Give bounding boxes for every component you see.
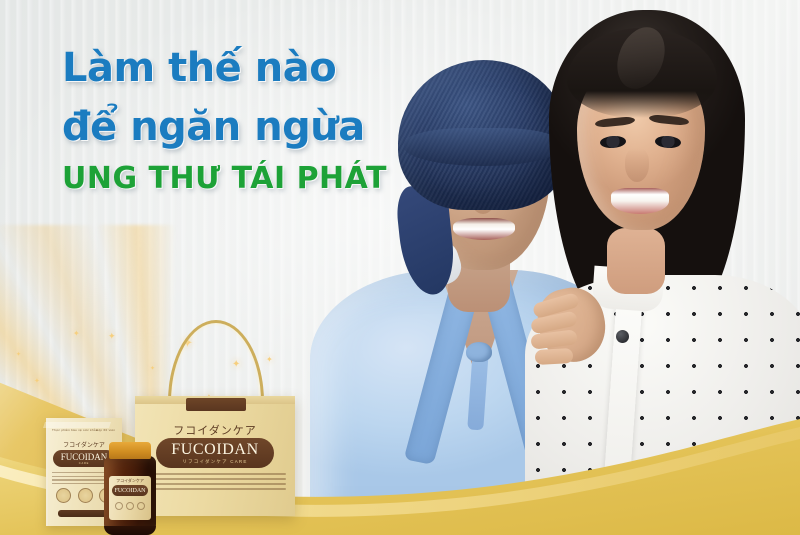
gift-bag-description <box>146 473 286 493</box>
leaf-icon <box>56 488 71 503</box>
headline-line-2: để ngăn ngừa <box>62 96 412 158</box>
gift-bag-brand-sub: リフコイダンケア CARE <box>182 459 247 465</box>
product-group: フコイダンケア FUCOIDAN リフコイダンケア CARE Thực phẩm… <box>28 300 298 535</box>
carton-top-left-text: Thực phẩm bảo vệ sức khỏe <box>52 428 98 432</box>
headline-line-1: Làm thế nào <box>62 40 412 96</box>
gift-bag-brand: FUCOIDAN <box>171 442 258 458</box>
bottle-jp-title: フコイダンケア <box>109 478 151 484</box>
sparkle-star: ✦ <box>16 352 21 358</box>
supplement-bottle: フコイダンケア FUCOIDAN <box>104 442 156 534</box>
sun-icon <box>126 502 134 510</box>
blouse-button <box>616 330 629 343</box>
young-neck <box>607 228 665 294</box>
young-smile <box>611 188 669 214</box>
headline-line-3: UNG THƯ TÁI PHÁT <box>62 158 412 200</box>
carton-brand: FUCOIDAN <box>61 453 108 462</box>
headline-block: Làm thế nào để ngăn ngừa UNG THƯ TÁI PHÁ… <box>62 40 412 200</box>
gift-bag-tab <box>186 398 246 411</box>
young-nose <box>625 148 649 182</box>
carton-brand-sub: CARE <box>79 462 89 465</box>
gown-knot <box>466 342 492 362</box>
carton-top-right-text: Hộp 60 viên <box>96 428 115 432</box>
sun-icon <box>78 488 93 503</box>
bottle-base <box>104 526 156 535</box>
leaf-icon <box>115 502 123 510</box>
gift-bag-logo: FUCOIDAN リフコイダンケア CARE <box>156 438 274 468</box>
promo-banner: ✦✦✦✦✦✦✦✦✦ <box>0 0 800 535</box>
bottle-logo: FUCOIDAN <box>112 485 148 496</box>
bottle-brand: FUCOIDAN <box>114 488 145 494</box>
gift-bag-handle <box>168 320 264 402</box>
shield-icon <box>137 502 145 510</box>
finger <box>535 348 574 365</box>
bottle-icons <box>115 502 145 510</box>
gift-bag-jp-title: フコイダンケア <box>140 422 290 438</box>
bottle-cap <box>109 442 151 459</box>
patient-smile <box>453 218 515 240</box>
